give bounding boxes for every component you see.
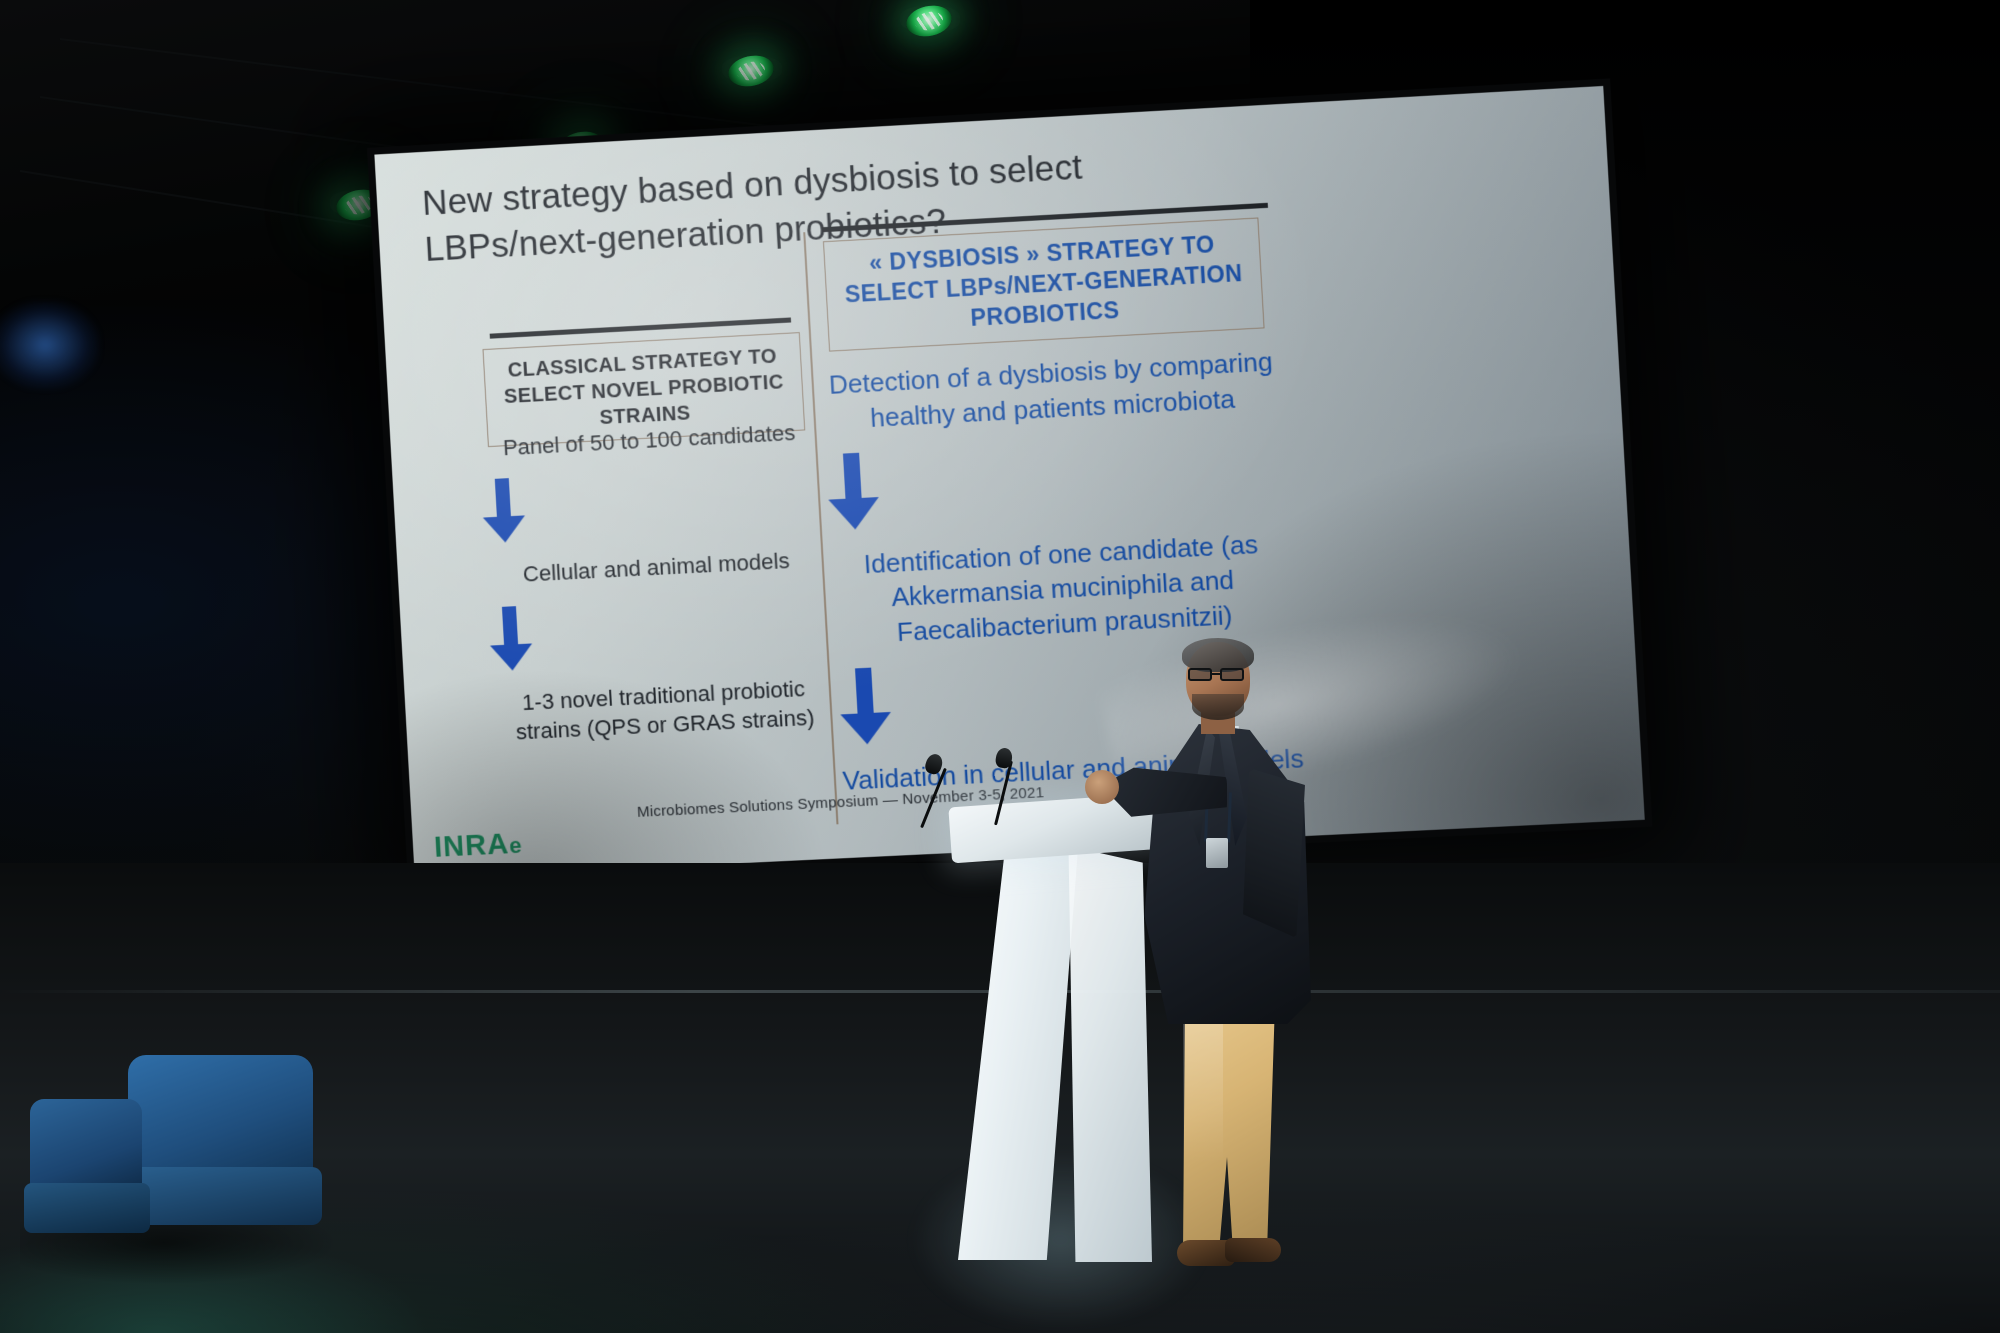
hand-left	[1085, 770, 1119, 804]
shoe-right	[1225, 1238, 1281, 1262]
beard	[1192, 694, 1244, 720]
seating-area	[30, 1055, 340, 1275]
lens-left	[1188, 668, 1212, 681]
trousers-highlight	[1183, 1010, 1223, 1230]
lens-right	[1220, 668, 1244, 681]
eyeglasses-icon	[1188, 668, 1248, 681]
armchair-primary-seat	[122, 1167, 322, 1225]
blue-stage-glow	[0, 300, 100, 390]
armchair-secondary-seat	[24, 1183, 150, 1233]
name-badge	[1206, 838, 1228, 868]
glasses-bridge	[1212, 673, 1222, 675]
stage-scene: New strategy based on dysbiosis to selec…	[0, 0, 2000, 1333]
arm-right	[1243, 768, 1305, 938]
presenter-figure	[1093, 642, 1343, 1307]
lamp-led-grid	[735, 59, 766, 82]
hair	[1182, 638, 1254, 672]
lamp-led-grid	[913, 9, 944, 32]
